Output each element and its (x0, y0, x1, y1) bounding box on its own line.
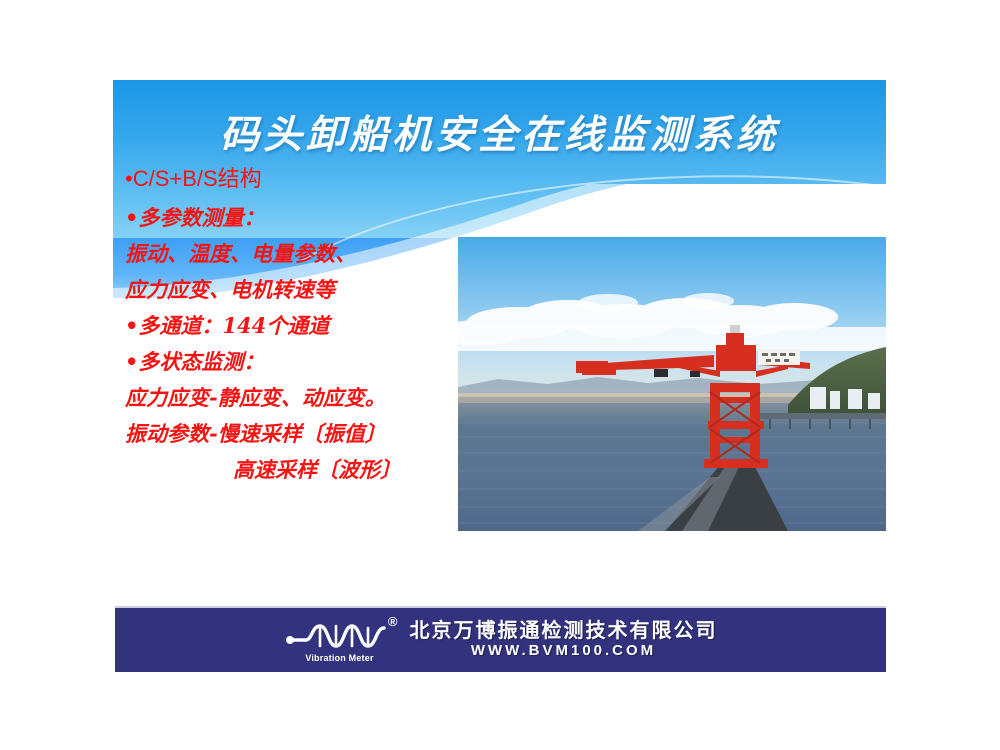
footer-text-block: 北京万博振通检测技术有限公司 WWW.BVM100.COM (410, 620, 718, 659)
presentation-slide: 码头卸船机安全在线监测系统 •C/S+B/S结构 •多参数测量： 振动、温度、电… (113, 80, 886, 672)
port-ship-unloader-photo (458, 237, 886, 531)
photo-artwork (458, 237, 886, 531)
company-name: 北京万博振通检测技术有限公司 (410, 620, 718, 641)
bullet-line-1: •C/S+B/S结构 (125, 168, 485, 190)
logo-caption: Vibration Meter (288, 653, 392, 663)
bullet-line-7: 应力应变-静应变、动应变。 (125, 387, 485, 408)
bullet-line-3: 振动、温度、电量参数、 (125, 243, 485, 264)
vibration-meter-logo: ® Vibration Meter (284, 616, 396, 662)
bullet-line-6: •多状态监测： (125, 351, 485, 372)
registered-trademark-icon: ® (388, 614, 398, 629)
bullet-line-8: 振动参数-慢速采样〔振值〕 (125, 423, 485, 444)
slide-body-text: •C/S+B/S结构 •多参数测量： 振动、温度、电量参数、 应力应变、电机转速… (125, 168, 485, 495)
bullet-line-4: 应力应变、电机转速等 (125, 279, 485, 300)
bullet-line-5: •多通道：144个通道 (125, 315, 485, 336)
slide-footer-bar: ® Vibration Meter 北京万博振通检测技术有限公司 WWW.BVM… (115, 606, 886, 672)
slide-title: 码头卸船机安全在线监测系统 (113, 104, 886, 160)
company-website: WWW.BVM100.COM (471, 643, 656, 659)
bullet-line-2: •多参数测量： (125, 207, 485, 228)
bullet-line-9: 高速采样〔波形〕 (125, 459, 485, 480)
wave-logo-icon (284, 616, 396, 656)
footer-content: ® Vibration Meter 北京万博振通检测技术有限公司 WWW.BVM… (284, 616, 718, 662)
